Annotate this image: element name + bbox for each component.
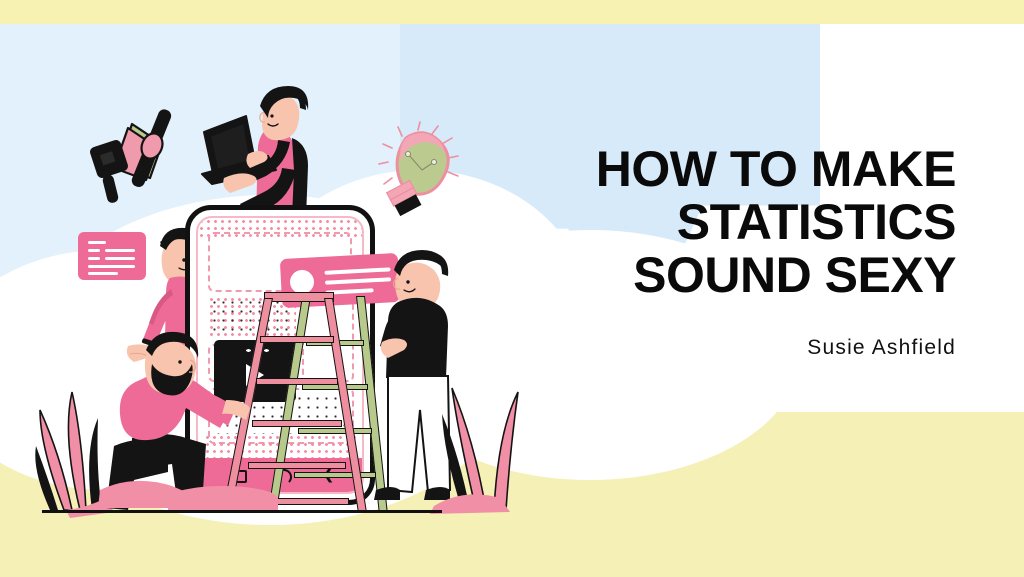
ground-mound xyxy=(168,486,278,512)
author-byline: Susie Ashfield xyxy=(536,336,956,360)
page-title: HOW TO MAKE STATISTICS SOUND SEXY xyxy=(536,143,956,302)
laptop-person xyxy=(196,82,328,217)
background-top-yellow-strip xyxy=(0,0,1024,24)
title-slide: HOW TO MAKE STATISTICS SOUND SEXY Susie … xyxy=(0,0,1024,577)
ground-line xyxy=(42,510,442,513)
megaphone-icon xyxy=(80,100,195,205)
lightbulb-icon xyxy=(378,122,468,232)
avatar xyxy=(289,269,314,294)
plants-right xyxy=(432,356,542,516)
stepladder xyxy=(250,292,380,517)
